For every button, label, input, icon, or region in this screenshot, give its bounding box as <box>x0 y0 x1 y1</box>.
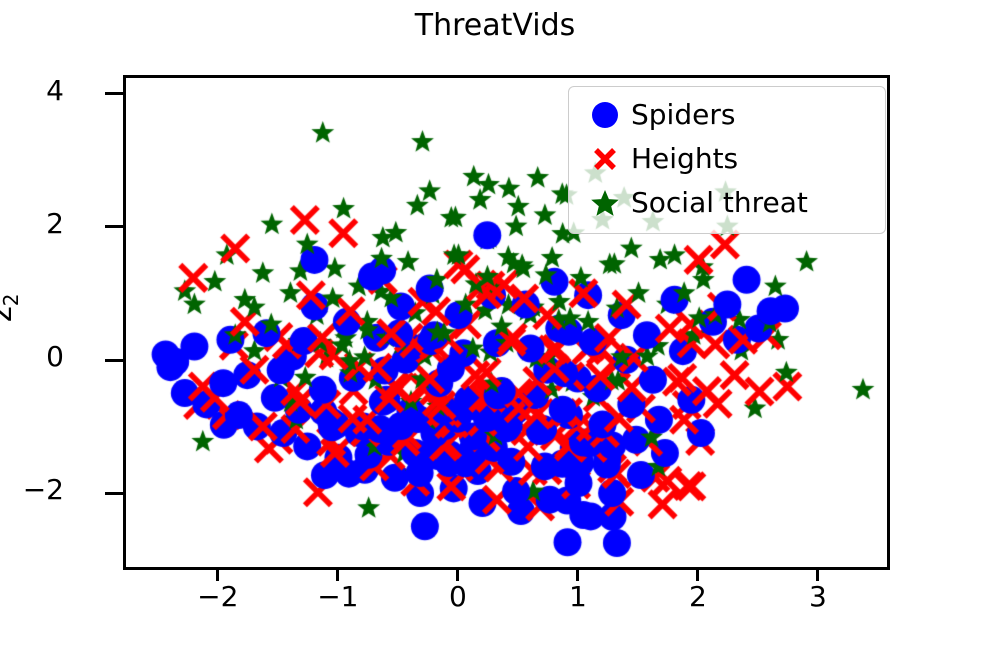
legend-label-heights: Heights <box>631 145 738 173</box>
y-tick-mark <box>105 92 123 95</box>
legend-entry-social-threat[interactable]: Social threat <box>579 181 875 225</box>
chart-title: ThreatVids <box>0 8 990 43</box>
legend-label-social-threat: Social threat <box>631 189 808 217</box>
x-tick-label: 0 <box>418 580 498 613</box>
y-tick-mark <box>105 225 123 228</box>
legend[interactable]: Spiders Heights Social threat <box>568 86 886 234</box>
x-tick-label: 1 <box>538 580 618 613</box>
y-tick-mark <box>105 359 123 362</box>
y-tick-label: −2 <box>0 473 64 506</box>
y-tick-label: 2 <box>0 207 64 240</box>
star-marker-icon <box>579 188 631 218</box>
legend-entry-heights[interactable]: Heights <box>579 137 875 181</box>
y-tick-label: 4 <box>0 74 64 107</box>
circle-marker-icon <box>579 102 631 128</box>
x-tick-label: 2 <box>658 580 738 613</box>
x-tick-label: −1 <box>298 580 378 613</box>
y-axis-label: z2 <box>0 294 23 322</box>
legend-label-spiders: Spiders <box>631 101 735 129</box>
x-tick-label: 3 <box>778 580 858 613</box>
y-axis-label-subscript: 2 <box>0 294 23 307</box>
y-tick-label: 0 <box>0 340 64 373</box>
y-axis-label-text: z <box>0 306 19 322</box>
scatter-figure: ThreatVids z2 420−2 −2−10123 Spiders Hei… <box>0 0 990 653</box>
y-tick-mark <box>105 492 123 495</box>
x-marker-icon <box>579 144 631 174</box>
legend-entry-spiders[interactable]: Spiders <box>579 93 875 137</box>
x-tick-label: −2 <box>178 580 258 613</box>
